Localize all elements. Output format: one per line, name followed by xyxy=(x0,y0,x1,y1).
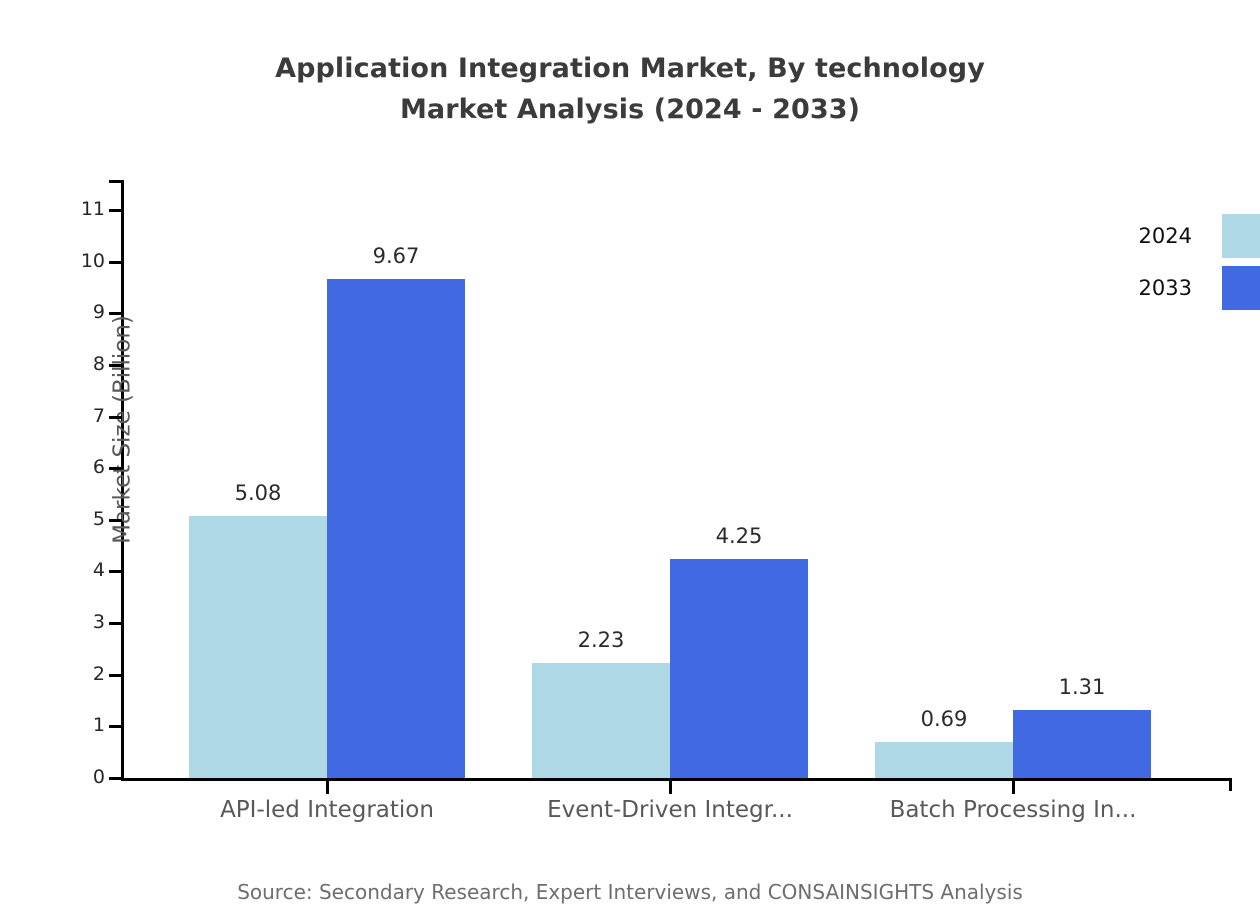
y-axis-tick xyxy=(109,725,121,728)
legend-item[interactable]: 2033 xyxy=(1100,266,1260,310)
legend-color-swatch xyxy=(1222,214,1260,258)
bar-value-label: 9.67 xyxy=(297,246,495,267)
y-axis-tick-label: 11 xyxy=(65,200,105,219)
y-axis-tick-label: 6 xyxy=(65,458,105,477)
chart-title: Application Integration Market, By techn… xyxy=(0,48,1260,130)
y-axis-tick-label: 9 xyxy=(65,303,105,322)
x-axis-line xyxy=(121,778,1232,781)
chart-figure: Application Integration Market, By techn… xyxy=(0,0,1260,920)
y-axis-tick-label: 5 xyxy=(65,510,105,529)
y-axis-tick xyxy=(109,467,121,470)
y-axis-tick xyxy=(109,209,121,212)
y-axis-tick-label: 7 xyxy=(65,407,105,426)
x-axis-tick-label: API-led Integration xyxy=(157,796,497,824)
y-axis-tick-label: 4 xyxy=(65,561,105,580)
x-axis-tick xyxy=(1012,781,1015,794)
y-axis-tick xyxy=(109,261,121,264)
y-axis-tick xyxy=(109,312,121,315)
source-note: Source: Secondary Research, Expert Inter… xyxy=(0,879,1260,905)
bar-value-label: 4.25 xyxy=(640,526,838,547)
chart-title-line-1: Application Integration Market, By techn… xyxy=(0,48,1260,89)
y-axis-tick xyxy=(109,364,121,367)
y-axis-tick-label: 3 xyxy=(65,613,105,632)
bar[interactable] xyxy=(532,663,670,778)
y-axis-tick xyxy=(109,519,121,522)
legend-item-label: 2033 xyxy=(1100,278,1192,299)
y-axis-tick xyxy=(109,777,121,780)
x-axis-tick xyxy=(669,781,672,794)
chart-legend: 20242033 xyxy=(1100,214,1260,318)
x-axis-tick-label: Batch Processing In... xyxy=(843,796,1183,824)
bar[interactable] xyxy=(327,279,465,778)
y-axis-tick xyxy=(109,416,121,419)
bar-value-label: 1.31 xyxy=(983,677,1181,698)
y-axis-tick-label: 8 xyxy=(65,355,105,374)
y-axis-tick-label: 0 xyxy=(65,768,105,787)
bar[interactable] xyxy=(670,559,808,778)
bar[interactable] xyxy=(189,516,327,778)
y-axis-title: Market Size (Billion) xyxy=(112,170,135,690)
x-axis-tick-label: Event-Driven Integr... xyxy=(500,796,840,824)
legend-item[interactable]: 2024 xyxy=(1100,214,1260,258)
y-axis-tick xyxy=(109,674,121,677)
y-axis-tick xyxy=(109,570,121,573)
y-axis-tick xyxy=(109,622,121,625)
y-axis-tick-label: 1 xyxy=(65,716,105,735)
x-axis-end-cap xyxy=(1229,778,1232,791)
plot-area: Market Size (Billion) 01234567891011 5.0… xyxy=(121,180,1232,781)
chart-title-line-2: Market Analysis (2024 - 2033) xyxy=(0,89,1260,130)
x-axis-tick xyxy=(326,781,329,794)
bar[interactable] xyxy=(1013,710,1151,778)
y-axis-tick-label: 10 xyxy=(65,252,105,271)
bar[interactable] xyxy=(875,742,1013,778)
legend-item-label: 2024 xyxy=(1100,226,1192,247)
legend-color-swatch xyxy=(1222,266,1260,310)
y-axis-tick-label: 2 xyxy=(65,665,105,684)
